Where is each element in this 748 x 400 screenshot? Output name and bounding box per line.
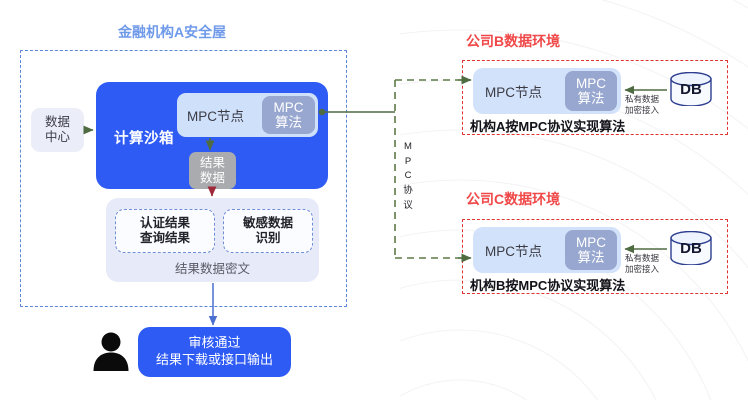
company-c-mpc-algo-line2: 算法: [578, 250, 605, 265]
protocol-label-char-2: C: [401, 169, 415, 184]
audit-output-line2: 结果下载或接口输出: [156, 352, 273, 369]
company-c-zone-title: 公司C数据环境: [466, 189, 560, 209]
person-icon: [92, 330, 130, 372]
sandbox-mpc-algo-box[interactable]: MPC 算法: [262, 96, 315, 134]
audit-output-line1: 审核通过: [188, 335, 240, 352]
cipher-chip-auth-query-line2: 查询结果: [140, 231, 190, 246]
data-center-line1: 数据: [45, 115, 70, 130]
company-c-db-caption-line1: 私有数据: [625, 253, 659, 264]
audit-output-button[interactable]: 审核通过 结果下载或接口输出: [138, 327, 291, 377]
company-c-db-caption-line2: 加密接入: [625, 264, 659, 275]
protocol-label-char-0: M: [401, 140, 415, 155]
company-b-db-caption-line2: 加密接入: [625, 105, 659, 116]
company-c-mpc-algo-box[interactable]: MPC 算法: [565, 230, 617, 270]
company-c-mpc-algo-line1: MPC: [576, 235, 606, 250]
company-b-caption: 机构A按MPC协议实现算法: [470, 116, 625, 135]
company-b-db-caption: 私有数据 加密接入: [625, 94, 659, 115]
company-b-database-cylinder-icon[interactable]: DB: [669, 72, 713, 106]
company-b-mpc-algo-line2: 算法: [578, 91, 605, 106]
company-c-db-caption: 私有数据 加密接入: [625, 253, 659, 274]
sandbox-mpc-node-label: MPC节点: [177, 105, 250, 125]
compute-sandbox-label: 计算沙箱: [114, 127, 174, 148]
company-b-mpc-algo-box[interactable]: MPC 算法: [565, 71, 617, 111]
protocol-label-char-3: 协: [401, 184, 415, 199]
company-b-db-label: DB: [669, 81, 713, 98]
company-b-mpc-node-box[interactable]: MPC节点 MPC 算法: [473, 68, 621, 114]
protocol-label-char-1: P: [401, 155, 415, 170]
protocol-label-char-4: 议: [401, 199, 415, 214]
company-b-mpc-algo-line1: MPC: [576, 76, 606, 91]
cipher-chip-sensitive-data-line1: 敏感数据: [243, 216, 293, 231]
company-c-mpc-node-label: MPC节点: [473, 240, 550, 260]
result-data-box[interactable]: 结果 数据: [189, 152, 236, 189]
cipher-chip-auth-query-line1: 认证结果: [140, 216, 190, 231]
compute-sandbox-box[interactable]: 计算沙箱 MPC节点 MPC 算法 结果 数据: [96, 82, 328, 189]
data-center-box[interactable]: 数据 中心: [31, 108, 84, 152]
company-c-mpc-node-box[interactable]: MPC节点 MPC 算法: [473, 227, 621, 273]
company-c-db-label: DB: [669, 240, 713, 257]
sandbox-mpc-algo-line2: 算法: [275, 115, 302, 130]
result-ciphertext-panel: 认证结果 查询结果 敏感数据 识别 结果数据密文: [106, 198, 319, 282]
result-data-line2: 数据: [200, 171, 225, 185]
protocol-vertical-label: M P C 协 议: [401, 140, 415, 214]
cipher-chip-sensitive-data[interactable]: 敏感数据 识别: [223, 209, 313, 253]
company-b-db-caption-line1: 私有数据: [625, 94, 659, 105]
diagram-canvas: 金融机构A安全屋 数据 中心 计算沙箱 MPC节点 MPC 算法 结果 数据 认…: [0, 0, 748, 400]
sandbox-mpc-node-box[interactable]: MPC节点 MPC 算法: [177, 93, 318, 137]
cipher-chip-auth-query[interactable]: 认证结果 查询结果: [115, 209, 215, 253]
company-c-caption: 机构B按MPC协议实现算法: [470, 275, 625, 294]
sandbox-mpc-algo-line1: MPC: [274, 100, 304, 115]
company-c-database-cylinder-icon[interactable]: DB: [669, 231, 713, 265]
cipher-panel-caption: 结果数据密文: [106, 258, 319, 277]
data-center-line2: 中心: [45, 130, 70, 145]
left-zone-title: 金融机构A安全屋: [118, 22, 226, 42]
company-b-zone-title: 公司B数据环境: [466, 31, 560, 51]
company-b-mpc-node-label: MPC节点: [473, 81, 550, 101]
result-data-line1: 结果: [200, 156, 225, 170]
cipher-chip-sensitive-data-line2: 识别: [255, 231, 280, 246]
